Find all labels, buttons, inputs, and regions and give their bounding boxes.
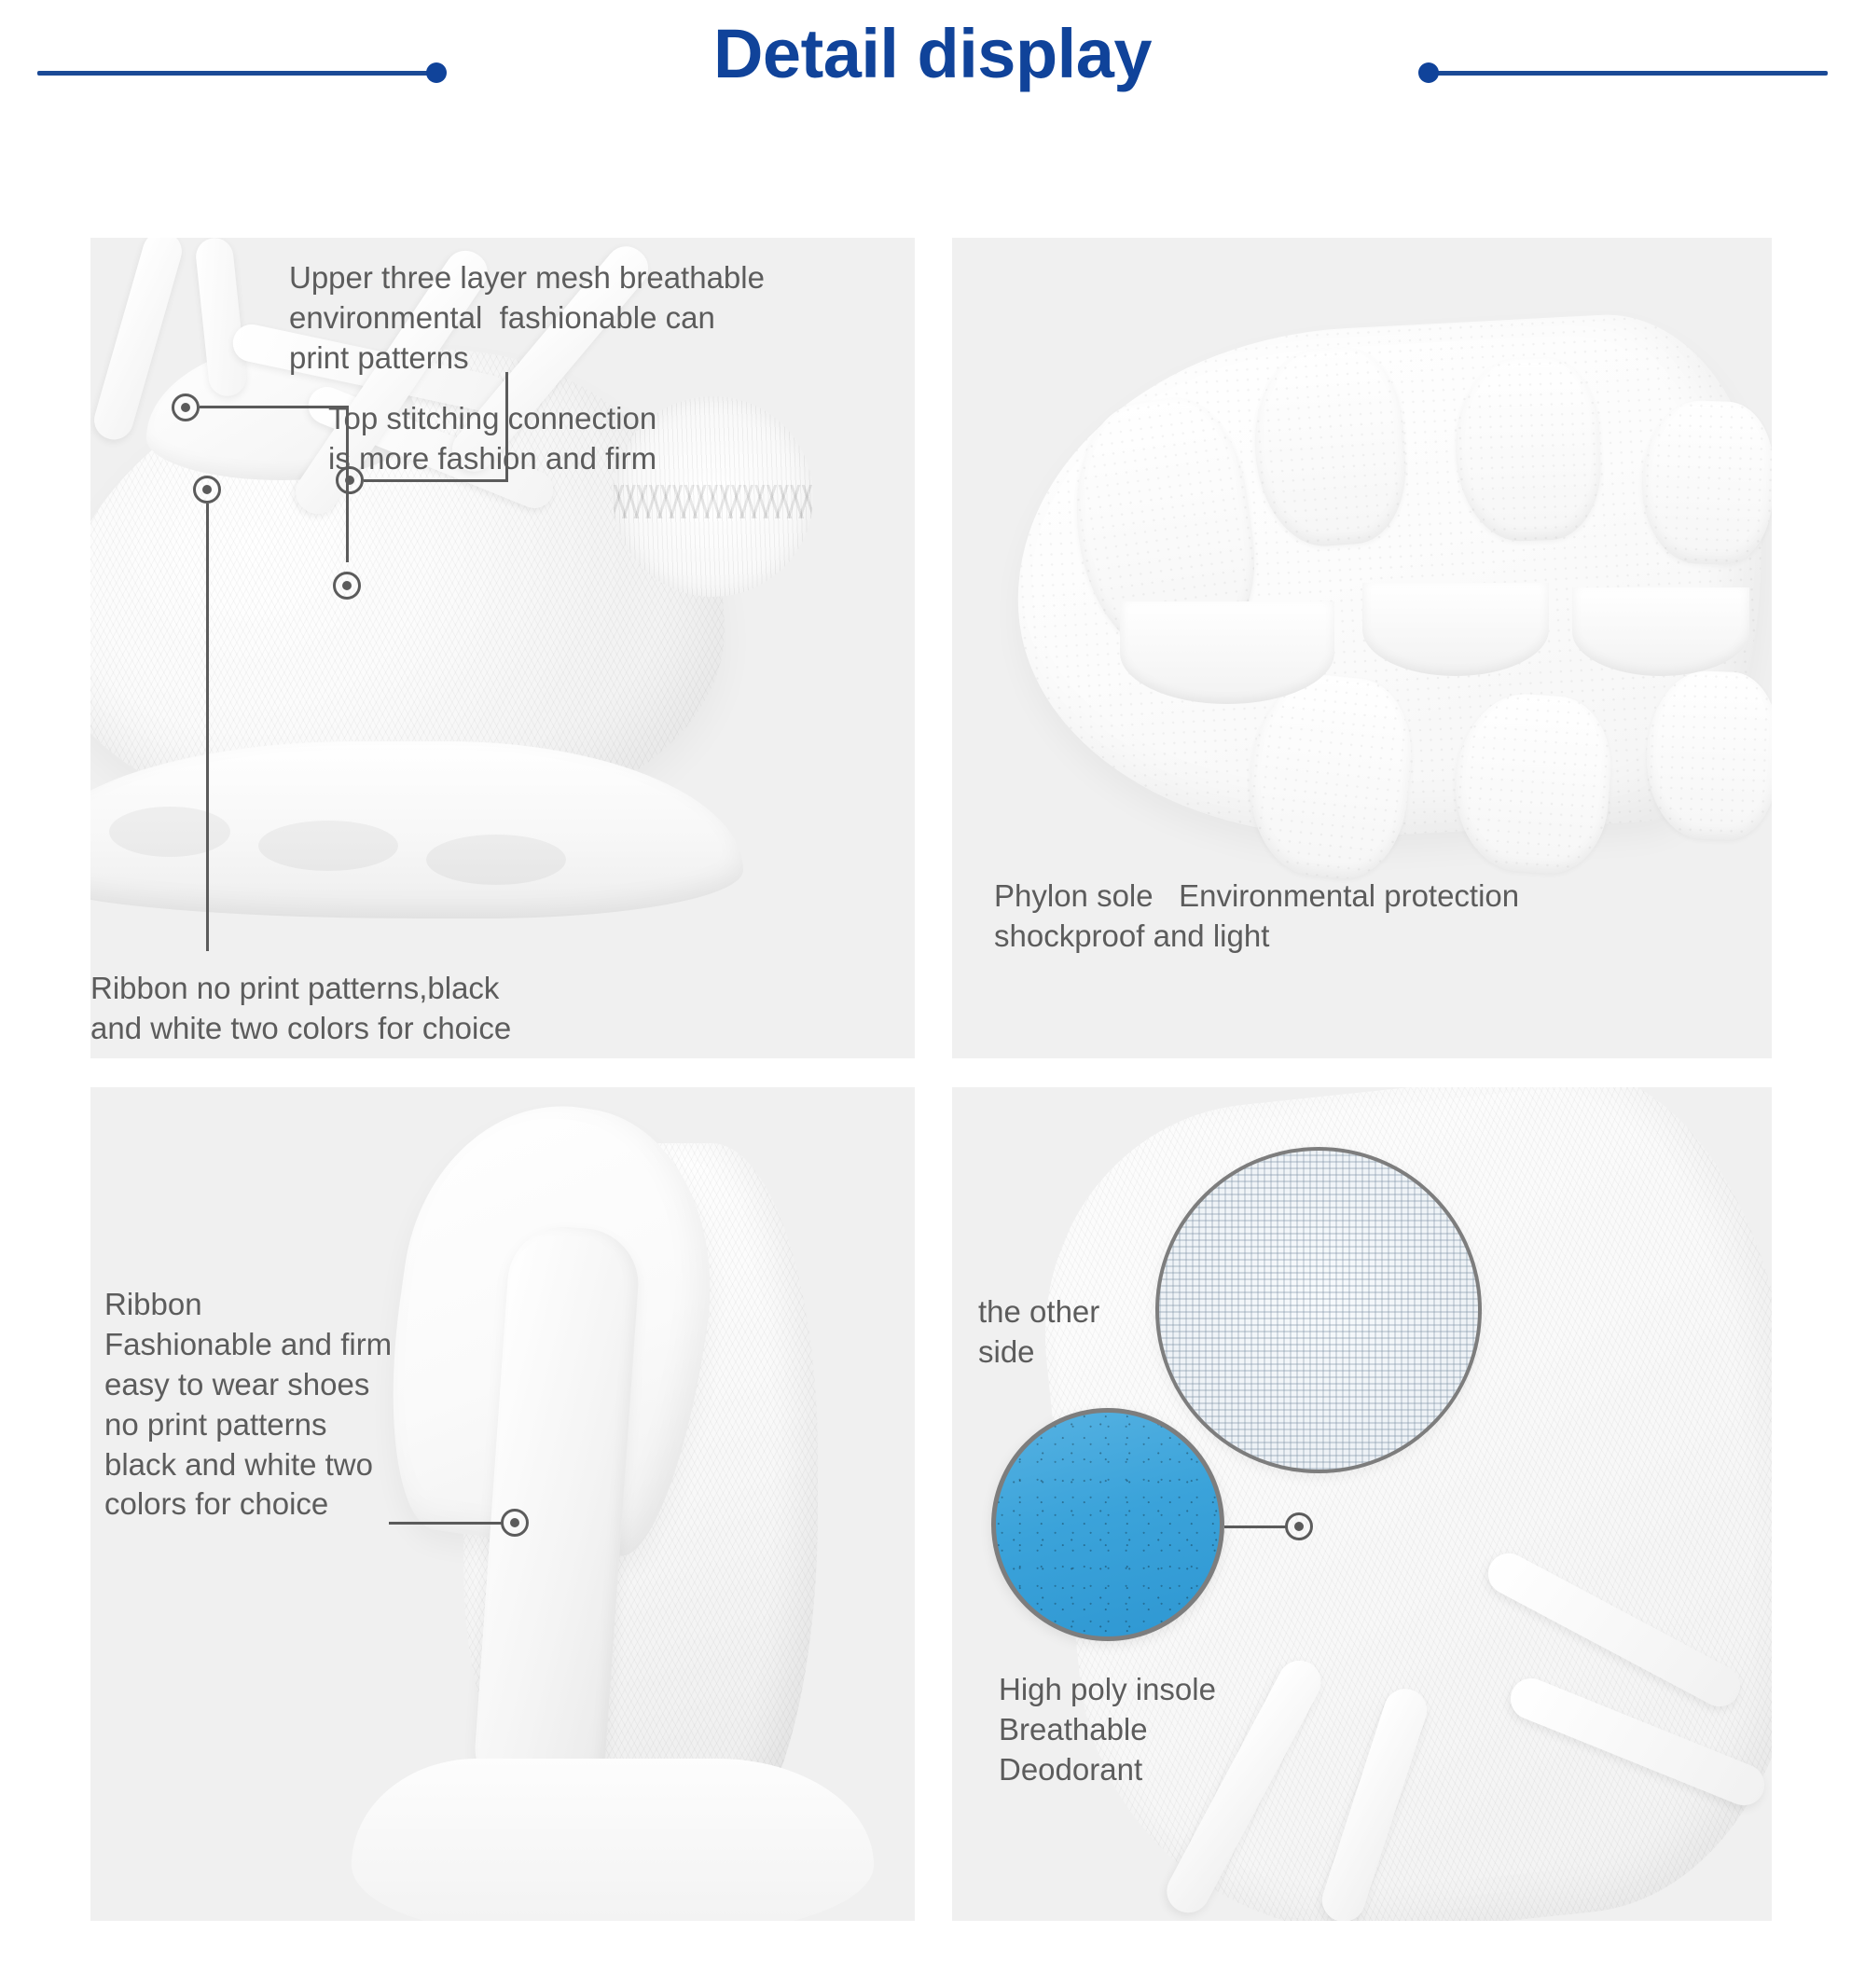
tread-block (1639, 399, 1772, 567)
caption-high-poly-insole: High poly insole Breathable Deodorant (999, 1670, 1372, 1790)
caption-other-side: the other side (978, 1292, 1221, 1373)
print-patterns-marker[interactable] (333, 572, 361, 600)
sole-ridge (426, 835, 566, 885)
tread-block (1453, 356, 1604, 543)
panel-insole: the other side High poly insole Breathab… (952, 1087, 1772, 1921)
flex-groove (1362, 583, 1549, 676)
stitch-row-texture (613, 485, 813, 518)
leader-line (200, 406, 349, 408)
detail-display-page: Detail display (0, 0, 1865, 1988)
upper-mesh-marker[interactable] (172, 393, 200, 421)
panel-ribbon-collar: Ribbon Fashionable and firm easy to wear… (90, 1087, 915, 1921)
caption-ribbon-collar: Ribbon Fashionable and firm easy to wear… (104, 1285, 627, 1525)
leader-line (1224, 1526, 1287, 1528)
caption-upper-mesh: Upper three layer mesh breathable enviro… (289, 258, 905, 379)
caption-ribbon-colors: Ribbon no print patterns,black and white… (90, 969, 743, 1049)
panel-phylon-sole: Phylon sole Environmental protection sho… (952, 238, 1772, 1058)
ribbon-marker[interactable] (193, 476, 221, 504)
sole-ridge (258, 821, 398, 871)
insole-closeup-circle (991, 1408, 1224, 1641)
caption-phylon-sole: Phylon sole Environmental protection sho… (994, 877, 1740, 957)
leader-line (364, 479, 508, 482)
top-stitching-marker[interactable] (336, 466, 364, 494)
tread-dot-texture (1639, 399, 1772, 567)
detail-panel-grid: Upper three layer mesh breathable enviro… (0, 0, 1865, 1988)
sole-ridge (109, 807, 230, 857)
leader-line (505, 372, 508, 480)
insole-marker[interactable] (1285, 1512, 1313, 1540)
panel-upper-mesh: Upper three layer mesh breathable enviro… (90, 238, 915, 1058)
tread-dot-texture (1453, 356, 1604, 543)
shoe-insole-photo (952, 1087, 1772, 1921)
flex-groove (1572, 587, 1749, 676)
caption-top-stitching: Top stitching connection is more fashion… (328, 399, 906, 479)
leader-line (389, 1522, 503, 1525)
ribbon-collar-marker[interactable] (501, 1509, 529, 1537)
shoe-base (352, 1759, 874, 1921)
flex-groove (1120, 601, 1334, 704)
leader-line (206, 504, 209, 951)
